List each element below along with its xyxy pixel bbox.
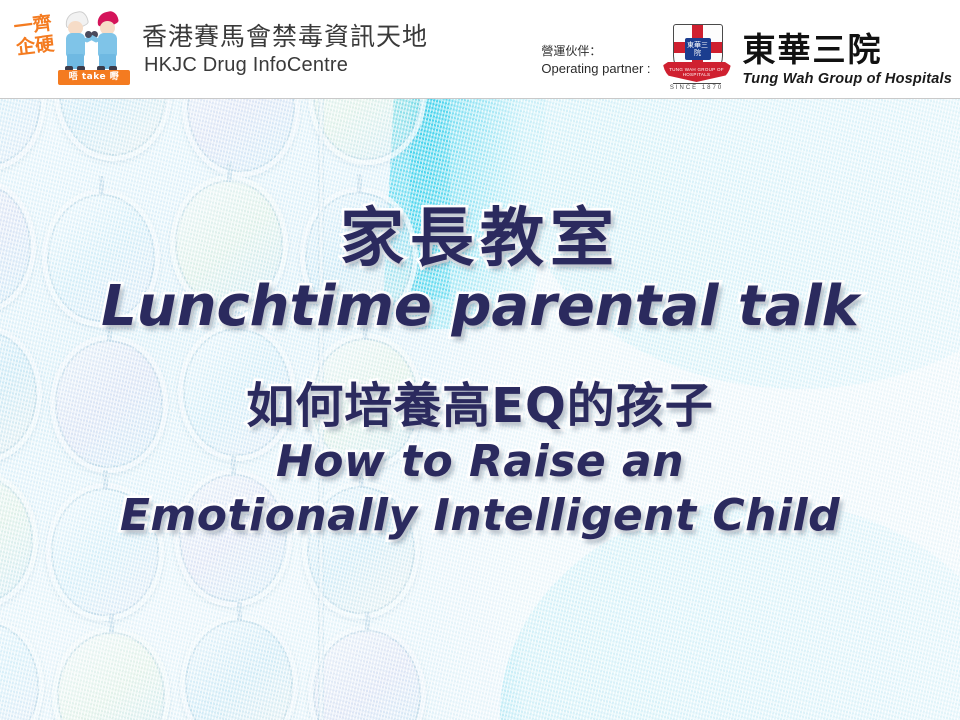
mascot-banner-text: 唔 take 嘢 — [58, 70, 130, 85]
mascot-fist-icon — [85, 31, 92, 38]
partner-name-chinese: 東華三院 — [743, 31, 952, 69]
mascot-figure-left — [62, 12, 89, 70]
brand-title-chinese: 香港賽馬會禁毒資訊天地 — [142, 22, 428, 52]
operating-partner-label-en: Operating partner : — [541, 60, 650, 78]
crest-center-text: 東華三院 — [685, 38, 711, 60]
hkjc-stand-firm-mascot-logo: 一齊企硬 — [14, 6, 132, 90]
operating-partner-label-cn: 營運伙伴： — [541, 43, 650, 60]
header-brand-group: 一齊企硬 — [14, 6, 428, 90]
crest-divider — [673, 83, 721, 84]
poster-slide: 一齊企硬 — [0, 0, 960, 720]
poster-background-artwork — [0, 99, 960, 720]
header-partner-group: 營運伙伴： Operating partner : 東華三院 TUNG WAH … — [541, 22, 952, 98]
paper-texture-overlay — [0, 99, 960, 720]
header-bar: 一齊企硬 — [0, 0, 960, 99]
partner-name-english: Tung Wah Group of Hospitals — [743, 69, 952, 89]
crest-ribbon-shape: TUNG WAH GROUP OF HOSPITALS — [663, 62, 731, 82]
crest-ribbon-text: TUNG WAH GROUP OF HOSPITALS — [663, 67, 731, 77]
header-brand-titles: 香港賽馬會禁毒資訊天地 HKJC Drug InfoCentre — [142, 18, 428, 78]
crest-since-text: SINCE 1870 — [661, 85, 733, 91]
tung-wah-crest-icon: 東華三院 TUNG WAH GROUP OF HOSPITALS SINCE 1… — [661, 22, 733, 98]
operating-partner-label: 營運伙伴： Operating partner : — [541, 43, 650, 78]
brand-title-english: HKJC Drug InfoCentre — [142, 52, 428, 78]
mascot-figure-right — [94, 12, 121, 70]
partner-name-group: 東華三院 Tung Wah Group of Hospitals — [743, 31, 952, 89]
